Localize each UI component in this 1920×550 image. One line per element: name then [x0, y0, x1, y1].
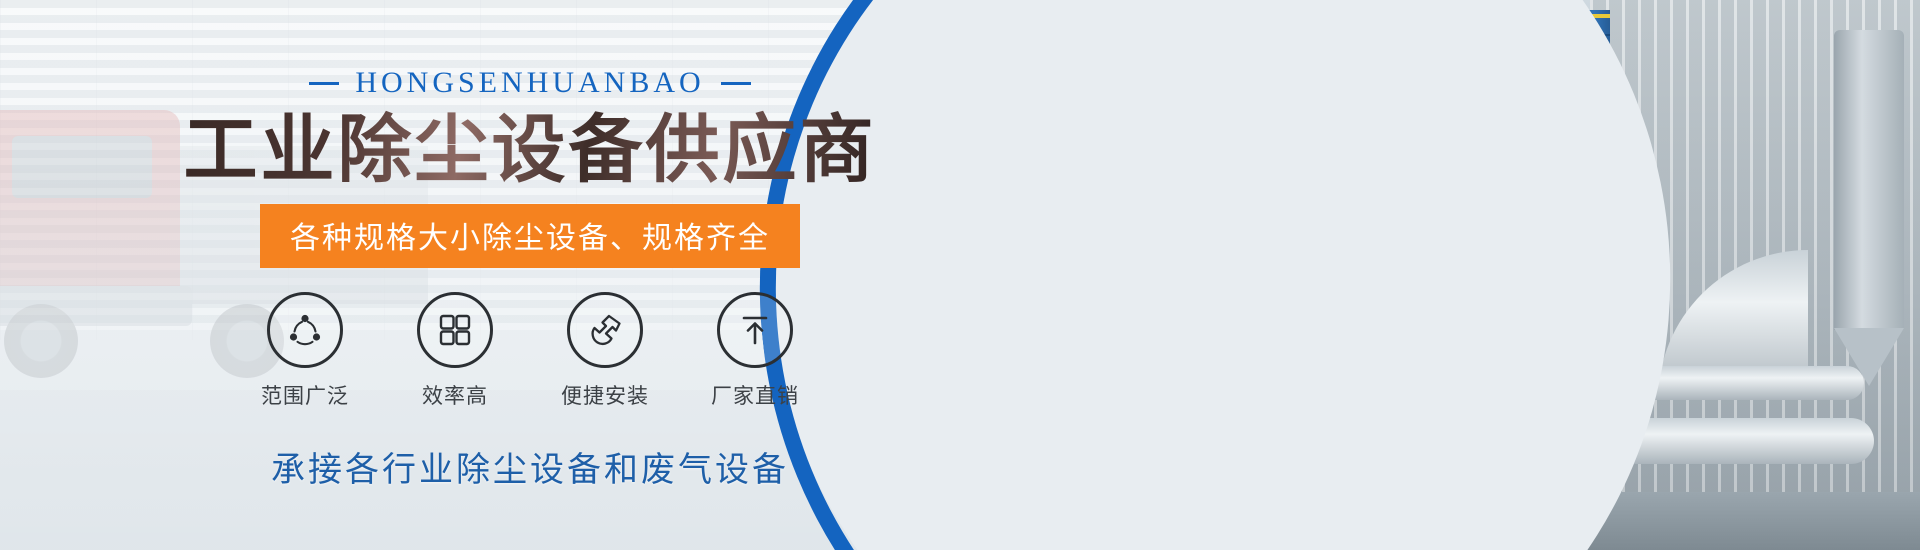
arrow-up-bar-icon — [717, 292, 793, 368]
grid-squares-icon — [417, 292, 493, 368]
dash-left-icon — [309, 82, 339, 85]
banner-content: HONGSENHUANBAO 工业除尘设备供应商 各种规格大小除尘设备、规格齐全 — [0, 0, 1060, 550]
subtitle-bar: 各种规格大小除尘设备、规格齐全 — [260, 204, 800, 268]
feature-label: 范围广泛 — [261, 380, 349, 410]
feature-item-direct-sales[interactable]: 厂家直销 — [709, 292, 801, 410]
tagline: 承接各行业除尘设备和废气设备 — [271, 442, 789, 491]
brand-eyebrow-text: HONGSENHUANBAO — [355, 66, 704, 100]
wrench-icon — [567, 292, 643, 368]
share-nodes-icon — [267, 292, 343, 368]
dash-right-icon — [721, 82, 751, 85]
feature-label: 便捷安装 — [561, 380, 649, 410]
hero-banner: HONGSENHUANBAO 工业除尘设备供应商 各种规格大小除尘设备、规格齐全 — [0, 0, 1920, 550]
brand-eyebrow: HONGSENHUANBAO — [309, 66, 750, 100]
feature-label: 效率高 — [422, 380, 488, 410]
feature-label: 厂家直销 — [711, 380, 799, 410]
feature-item-scope[interactable]: 范围广泛 — [259, 292, 351, 410]
feature-item-efficiency[interactable]: 效率高 — [409, 292, 501, 410]
feature-list: 范围广泛 效率高 — [259, 292, 801, 410]
feature-item-installation[interactable]: 便捷安装 — [559, 292, 651, 410]
page-title: 工业除尘设备供应商 — [184, 110, 877, 190]
